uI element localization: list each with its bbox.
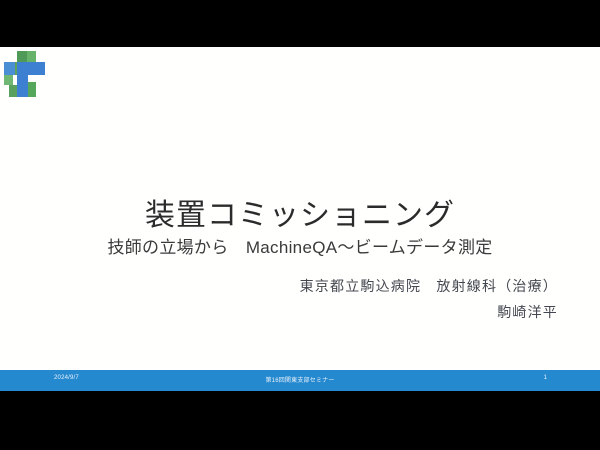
pixel-cross-logo-icon [4,51,50,99]
letterbox-top [0,0,600,47]
logo-block [17,85,28,97]
logo-block [4,75,13,85]
footer-event-name: 第16回関東支部セミナー [0,375,600,384]
title-block: 装置コミッショニング 技師の立場から MachineQA～ビームデータ測定 [0,197,600,259]
logo-block [4,62,15,75]
logo-block [17,51,27,62]
page-title: 装置コミッショニング [0,197,600,235]
slide-footer-bar: 2024/9/7 第16回関東支部セミナー 1 [0,370,600,391]
logo-block [17,62,36,75]
logo-block [9,85,17,97]
author-name-text: 駒崎洋平 [300,301,558,323]
logo-block [28,82,36,97]
video-viewer-frame: 装置コミッショニング 技師の立場から MachineQA～ビームデータ測定 東京… [0,0,600,450]
affiliation-text: 東京都立駒込病院 放射線科（治療） [300,275,558,297]
presentation-slide: 装置コミッショニング 技師の立場から MachineQA～ビームデータ測定 東京… [0,47,600,391]
footer-page-number: 1 [544,375,547,381]
page-subtitle: 技師の立場から MachineQA～ビームデータ測定 [0,236,600,259]
logo-block [17,75,28,85]
letterbox-bottom [0,391,600,450]
logo-block [36,62,45,75]
author-block: 東京都立駒込病院 放射線科（治療） 駒崎洋平 [300,275,558,323]
logo-block [27,51,36,62]
